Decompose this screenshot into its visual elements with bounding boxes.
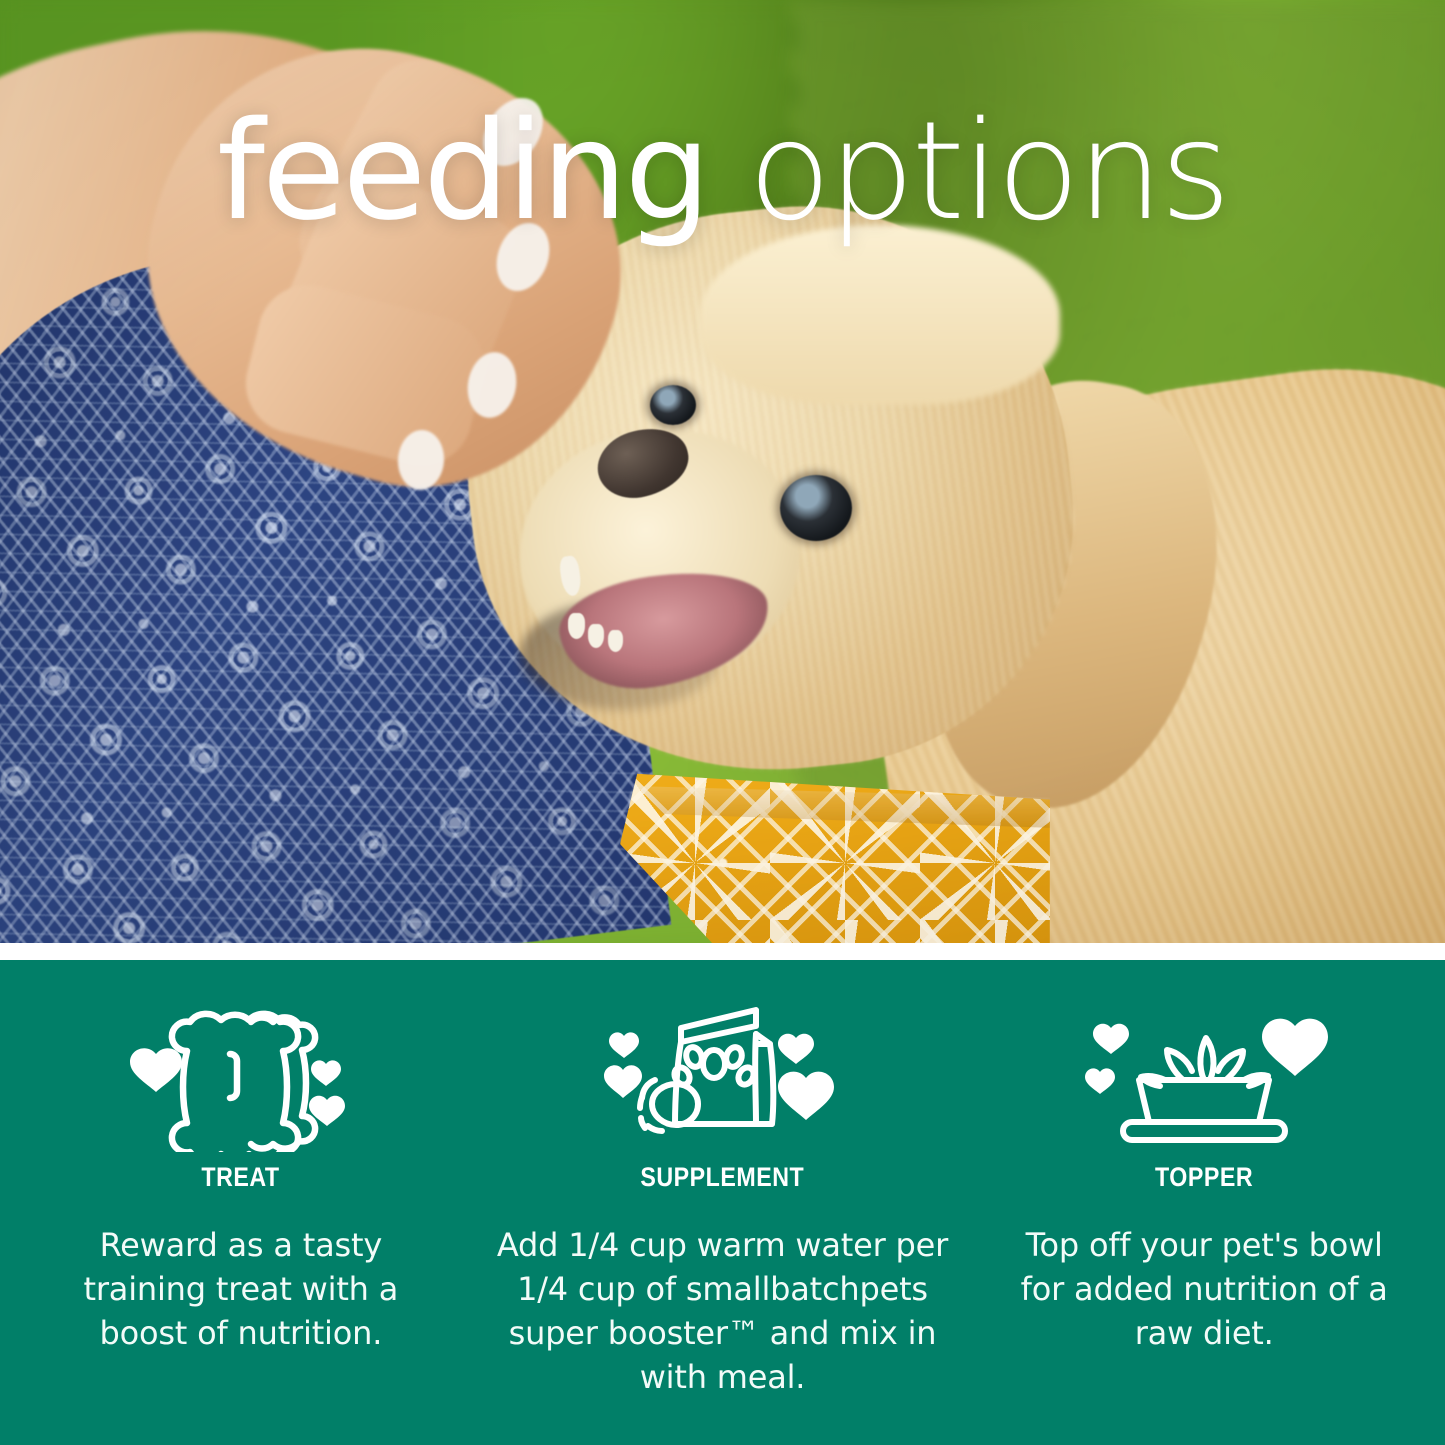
- feeding-option-topper: TOPPER Top off your pet's bowl for added…: [963, 960, 1445, 1445]
- food-bag-paw-scoop-hearts-icon: [598, 1002, 848, 1152]
- feeding-option-description: Add 1/4 cup warm water per 1/4 cup of sm…: [493, 1223, 953, 1400]
- dog-tooth: [588, 624, 604, 648]
- dog-tooth: [608, 630, 623, 652]
- dog-tooth: [568, 613, 585, 639]
- dog-bone-hearts-icon: [126, 1002, 356, 1152]
- feeding-option-treat: TREAT Reward as a tasty training treat w…: [0, 960, 482, 1445]
- feeding-option-description: Reward as a tasty training treat with a …: [76, 1223, 406, 1355]
- dog-eye-right: [780, 475, 852, 541]
- dog-eye-left: [650, 385, 696, 425]
- dog-bandana: [620, 770, 1050, 943]
- feeding-option-supplement: SUPPLEMENT Add 1/4 cup warm water per 1/…: [482, 960, 964, 1445]
- dog-topknot-fur: [700, 225, 1060, 405]
- feeding-option-label: TREAT: [202, 1162, 280, 1193]
- feeding-option-label: TOPPER: [1155, 1162, 1253, 1193]
- page-title-word-1: feeding: [217, 93, 708, 251]
- feeding-option-description: Top off your pet's bowl for added nutrit…: [1004, 1223, 1404, 1355]
- white-divider: [0, 943, 1445, 960]
- page-title-word-2: options: [748, 93, 1228, 251]
- feeding-option-label: SUPPLEMENT: [641, 1162, 805, 1193]
- hero-photo: feeding options: [0, 0, 1445, 943]
- product-infographic: feeding options TREAT Reward as: [0, 0, 1445, 1445]
- dog-bowl-food-hearts-icon: [1079, 1002, 1329, 1152]
- feeding-options-panel: TREAT Reward as a tasty training treat w…: [0, 960, 1445, 1445]
- page-title: feeding options: [0, 104, 1445, 240]
